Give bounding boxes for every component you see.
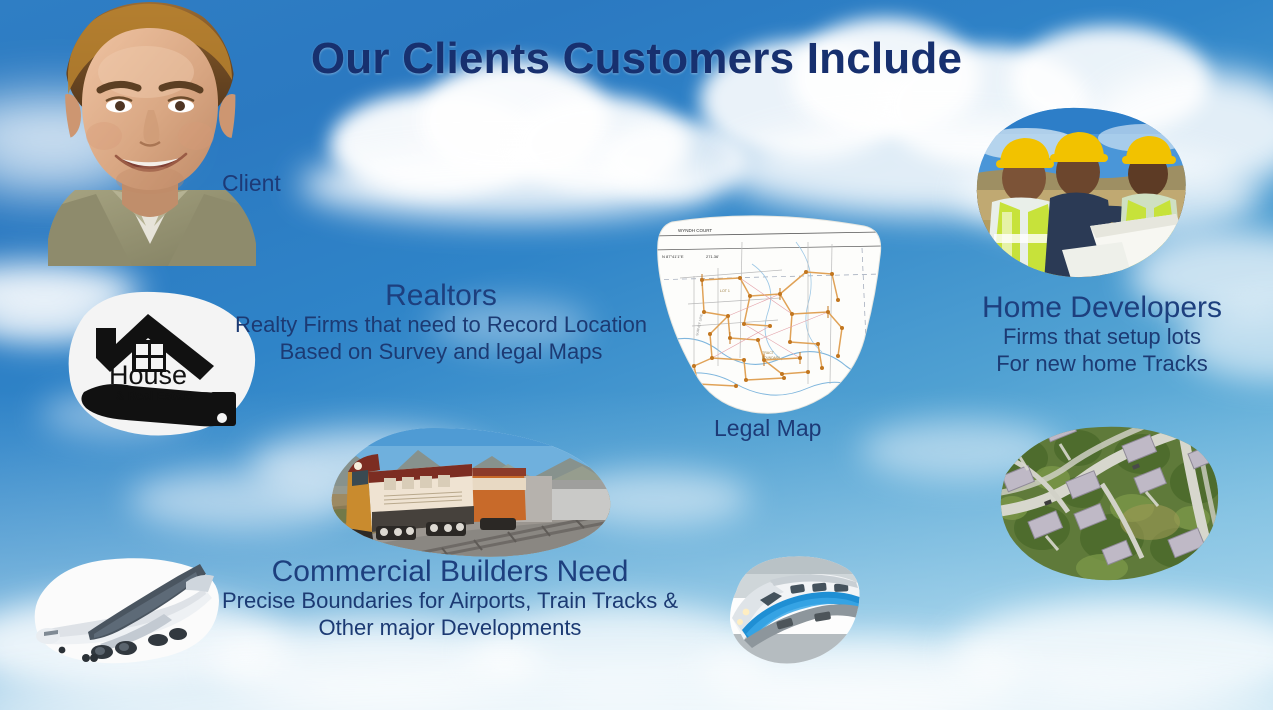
svg-text:271.36': 271.36' — [706, 254, 719, 259]
slide-canvas: Our Clients Customers Include — [0, 0, 1273, 710]
client-portrait-photo — [42, 0, 258, 266]
aerial-neighborhood-photo — [982, 418, 1230, 586]
group-commercial-builders: Commercial Builders Need Precise Boundar… — [190, 556, 710, 642]
realtors-line-2: Based on Survey and legal Maps — [206, 339, 676, 366]
group-home-developers: Home Developers Firms that setup lots Fo… — [942, 292, 1262, 378]
client-label: Client — [222, 170, 281, 197]
home-developers-line-1: Firms that setup lots — [942, 324, 1262, 351]
group-realtors: Realtors Realty Firms that need to Recor… — [206, 280, 676, 366]
logo-word-sub: & Real Estate — [116, 389, 193, 403]
svg-text:BOUNDARY: BOUNDARY — [762, 356, 781, 360]
logo-word-main: House — [109, 360, 187, 390]
legal-survey-map-image: WYNDH COURT N 87°41'1"E 271.36' — [632, 208, 898, 420]
svg-text:N 87°41'1"E: N 87°41'1"E — [662, 254, 684, 259]
svg-text:TRACT: TRACT — [762, 351, 775, 355]
realtors-heading: Realtors — [206, 280, 676, 312]
airliner-photo — [28, 552, 228, 670]
home-developers-line-2: For new home Tracks — [942, 351, 1262, 378]
construction-workers-photo — [962, 100, 1200, 282]
svg-text:LOT 1: LOT 1 — [720, 289, 730, 293]
commercial-builders-heading: Commercial Builders Need — [190, 556, 710, 588]
commercial-builders-line-1: Precise Boundaries for Airports, Train T… — [190, 588, 710, 615]
home-developers-heading: Home Developers — [942, 292, 1262, 324]
bullet-train-photo — [722, 548, 868, 670]
freight-train-photo — [322, 420, 620, 558]
realtors-line-1: Realty Firms that need to Record Locatio… — [206, 312, 676, 339]
commercial-builders-line-2: Other major Developments — [190, 615, 710, 642]
svg-text:WYNDH COURT: WYNDH COURT — [678, 228, 712, 233]
legal-map-label: Legal Map — [714, 415, 821, 442]
